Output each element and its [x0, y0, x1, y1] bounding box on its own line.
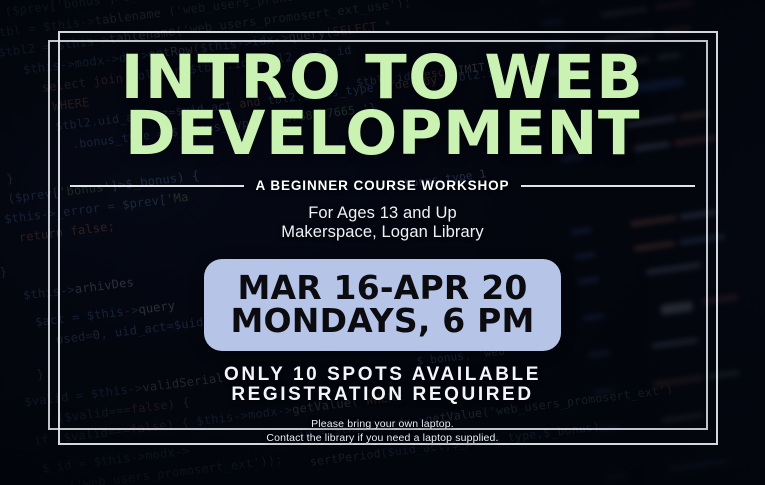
divider-right — [521, 185, 695, 187]
poster-content: INTRO TO WEB DEVELOPMENT A BEGINNER COUR… — [0, 0, 765, 485]
poster: 260 261 262 263 264 265 266 267 268 269 … — [0, 0, 765, 485]
kicker-row: A BEGINNER COURSE WORKSHOP — [70, 178, 695, 193]
notice-block: ONLY 10 SPOTS AVAILABLE REGISTRATION REQ… — [224, 365, 541, 405]
subtitle-block: For Ages 13 and Up Makerspace, Logan Lib… — [281, 204, 483, 242]
date-range-label: MAR 16-APR 20 — [230, 271, 534, 304]
title-line-2: DEVELOPMENT — [63, 106, 703, 162]
day-time-label: MONDAYS, 6 PM — [230, 304, 534, 337]
location-label: Makerspace, Logan Library — [281, 223, 483, 242]
date-badge: MAR 16-APR 20 MONDAYS, 6 PM — [204, 259, 560, 351]
fine-print-line-1: Please bring your own laptop. — [266, 418, 498, 432]
notice-line-1: ONLY 10 SPOTS AVAILABLE — [224, 365, 541, 385]
fine-print-line-2: Contact the library if you need a laptop… — [266, 432, 498, 446]
fine-print-block: Please bring your own laptop. Contact th… — [266, 418, 498, 445]
kicker-label: A BEGINNER COURSE WORKSHOP — [256, 178, 510, 193]
page-title: INTRO TO WEB DEVELOPMENT — [63, 50, 703, 162]
audience-label: For Ages 13 and Up — [281, 204, 483, 223]
notice-line-2: REGISTRATION REQUIRED — [224, 385, 541, 405]
divider-left — [70, 185, 244, 187]
